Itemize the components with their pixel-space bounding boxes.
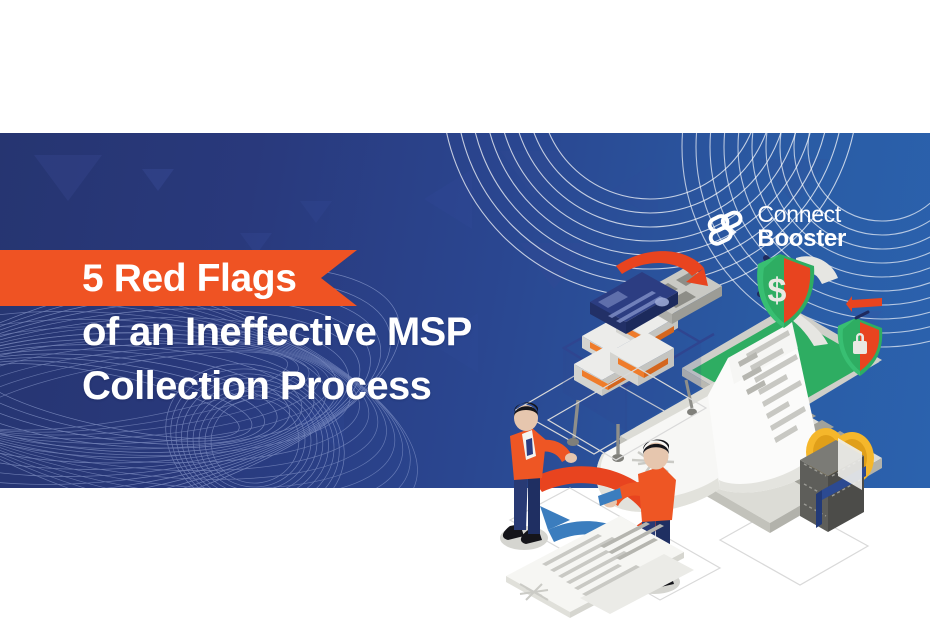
decor-triangle-2 bbox=[142, 169, 174, 191]
decor-triangle-10 bbox=[850, 311, 882, 333]
page-title-line-1: of an Ineffective MSP bbox=[82, 310, 472, 354]
logo-line-2: Booster bbox=[757, 227, 846, 251]
poster-canvas: $ $ bbox=[0, 0, 930, 620]
connectbooster-logo[interactable]: Connect Booster bbox=[705, 203, 846, 251]
decor-triangle-11 bbox=[760, 159, 828, 205]
paper-documents-stack bbox=[506, 516, 694, 618]
page-title: of an Ineffective MSP Collection Process bbox=[82, 306, 602, 413]
connectbooster-loop-mark bbox=[705, 206, 747, 248]
logo-line-1: Connect bbox=[757, 203, 846, 226]
decor-triangle-5 bbox=[300, 201, 332, 223]
decor-triangle-1 bbox=[34, 155, 102, 201]
logo-wordmark: Connect Booster bbox=[757, 203, 846, 251]
decor-triangle-12 bbox=[610, 161, 658, 221]
decor-triangle-8 bbox=[500, 151, 568, 197]
ribbon-label: 5 Red Flags bbox=[0, 259, 297, 298]
decor-triangle-6 bbox=[520, 243, 588, 289]
red-flags-ribbon: 5 Red Flags bbox=[0, 250, 357, 306]
page-title-line-2: Collection Process bbox=[82, 360, 602, 414]
decor-triangle-4 bbox=[424, 169, 472, 229]
